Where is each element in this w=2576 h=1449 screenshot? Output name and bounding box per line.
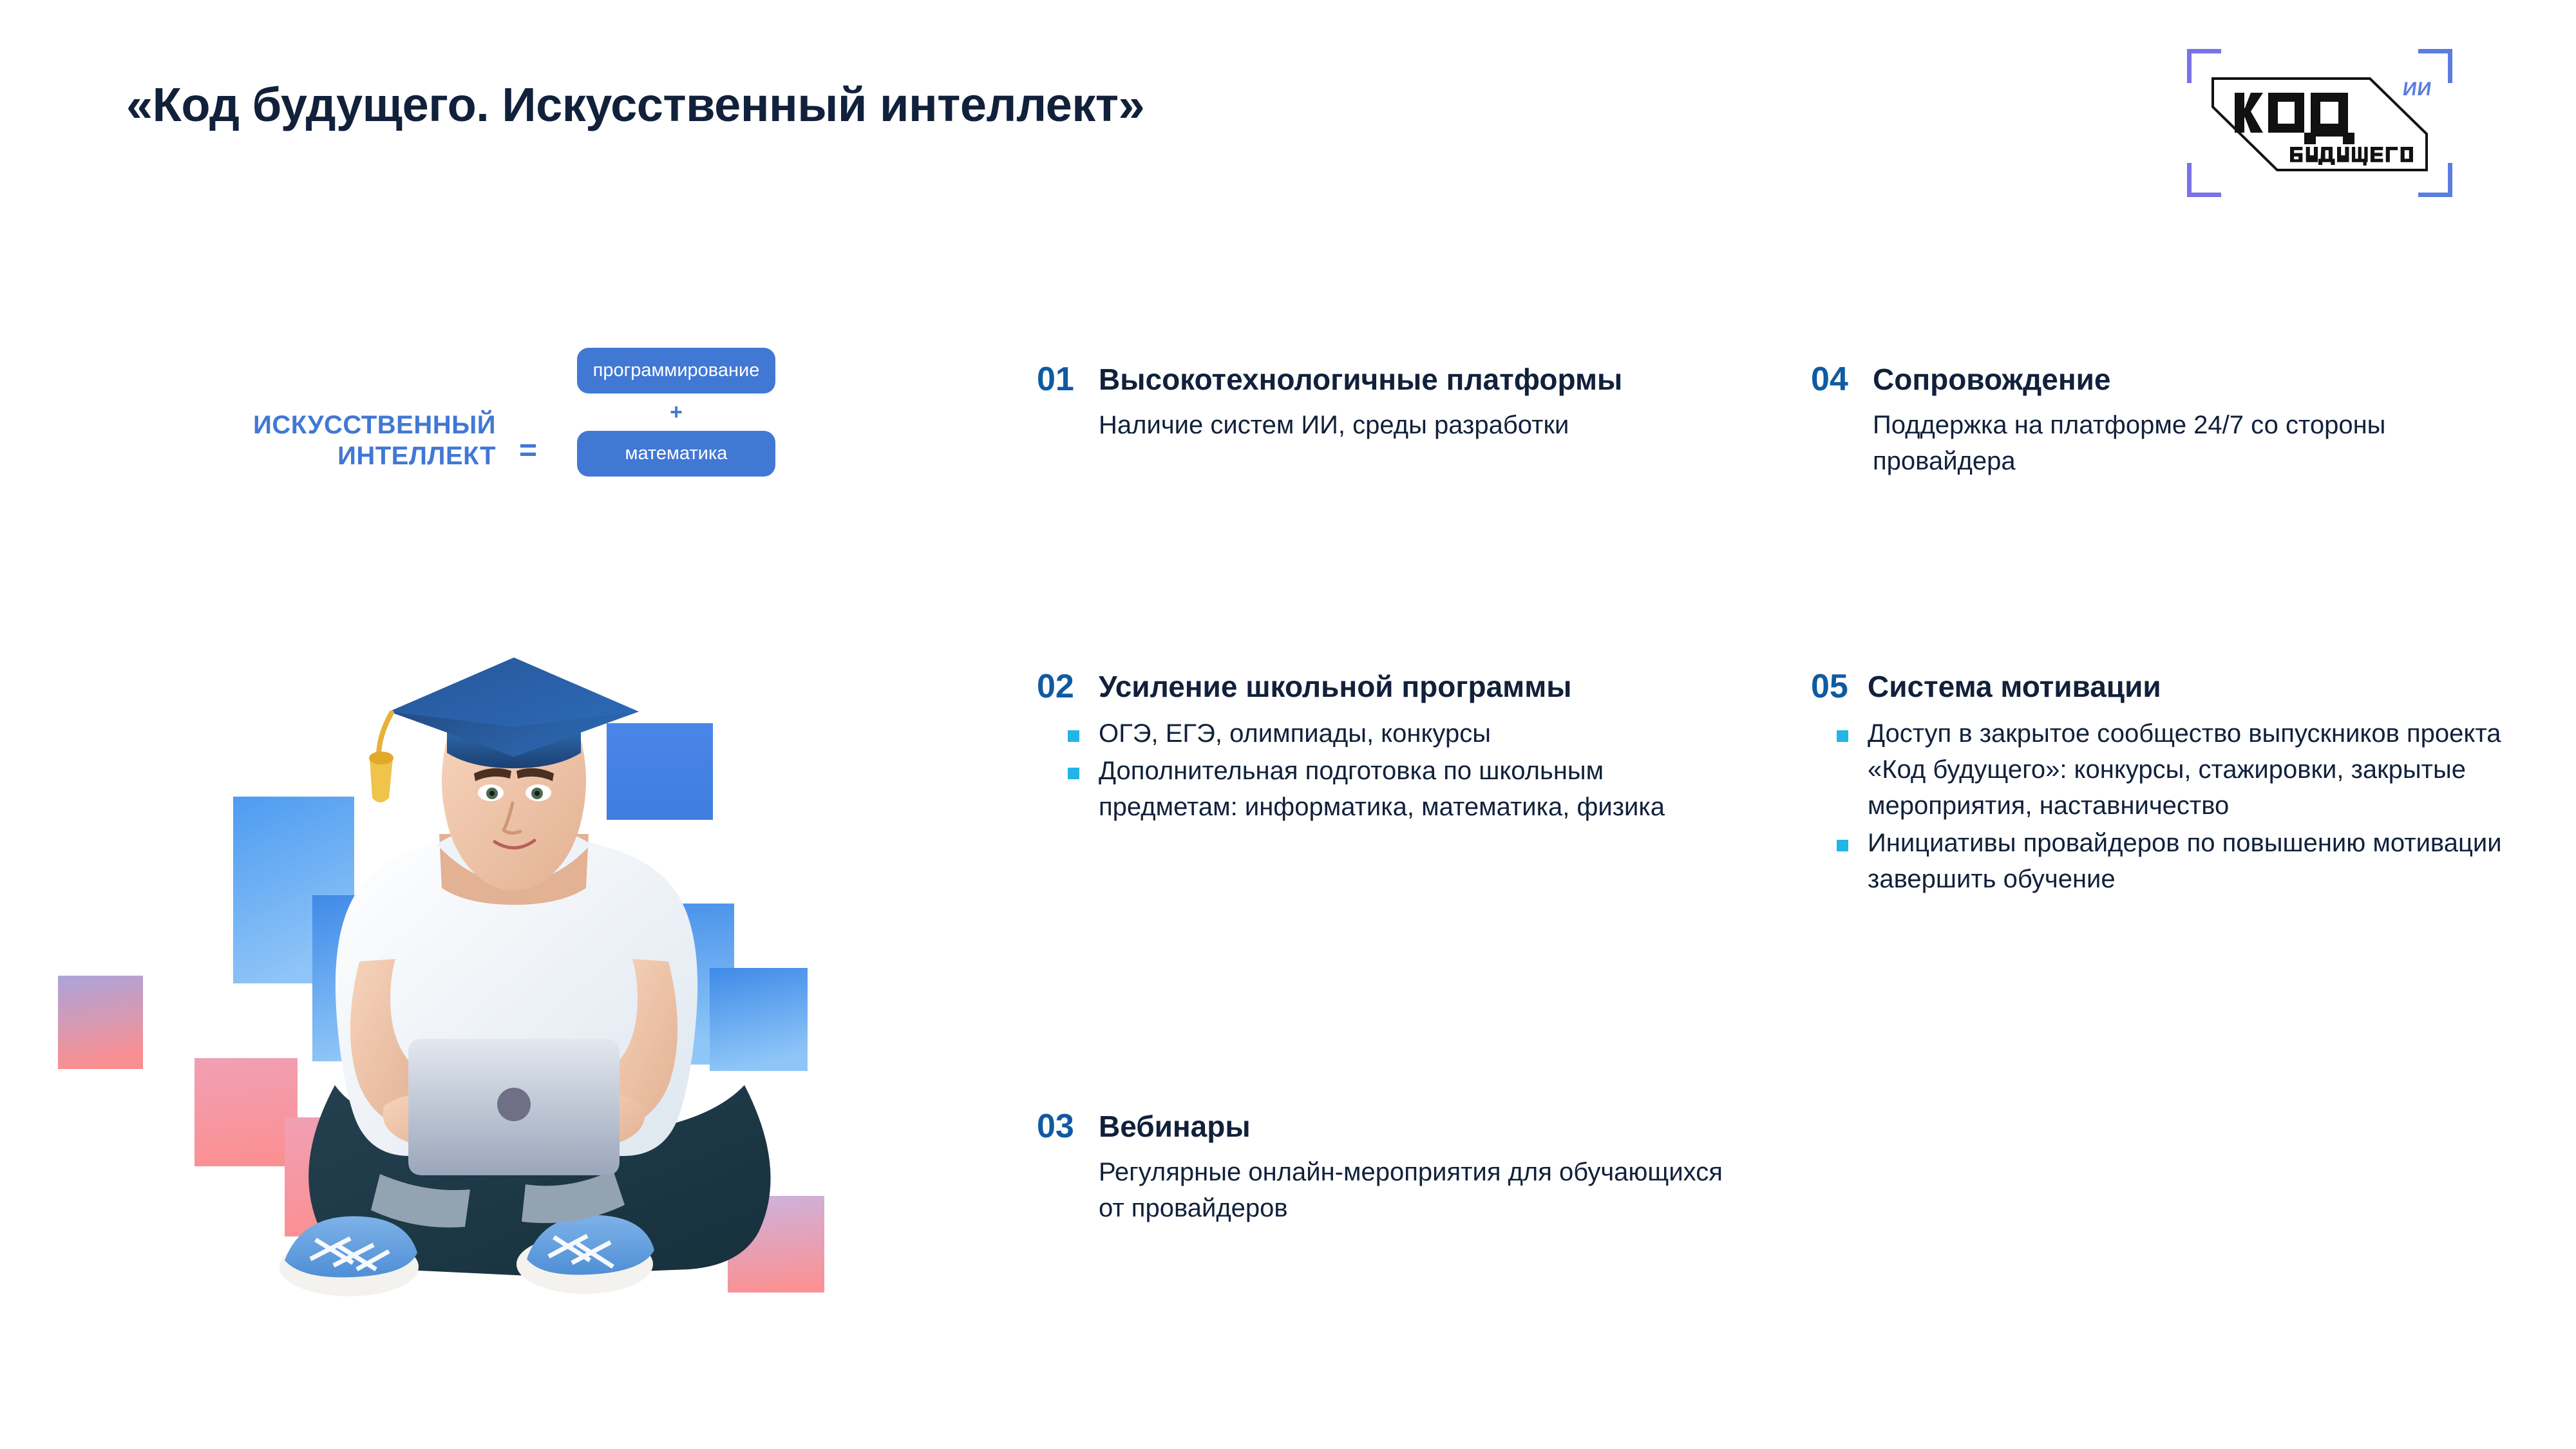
feature-description: Поддержка на платформе 24/7 со стороны п… xyxy=(1873,407,2494,479)
ai-term-programming: программирование xyxy=(577,348,775,393)
feature-header: 03 Вебинары xyxy=(1037,1106,1745,1146)
feature-title: Высокотехнологичные платформы xyxy=(1099,359,1622,399)
student-illustration-svg xyxy=(58,641,824,1336)
list-item: Доступ в закрытое сообщество выпускников… xyxy=(1811,715,2506,824)
ai-formula-terms: программирование + математика xyxy=(577,348,775,477)
list-item-label: Дополнительная подготовка по школьным пр… xyxy=(1099,757,1665,821)
ai-formula-label: ИСКУССТВЕННЫЙ ИНТЕЛЛЕКТ xyxy=(97,410,496,471)
ai-formula-equals-sign: = xyxy=(519,433,537,468)
feature-item-04: 04 Сопровождение Поддержка на платформе … xyxy=(1811,359,2494,479)
bullet-square-icon xyxy=(1837,840,1848,851)
feature-number: 01 xyxy=(1037,359,1099,399)
bullet-square-icon xyxy=(1068,768,1079,779)
list-item-label: Доступ в закрытое сообщество выпускников… xyxy=(1868,719,2501,820)
feature-header: 01 Высокотехнологичные платформы xyxy=(1037,359,1829,399)
feature-bullet-list: ОГЭ, ЕГЭ, олимпиады, конкурсы Дополнител… xyxy=(1037,715,1719,825)
feature-header: 04 Сопровождение xyxy=(1811,359,2494,399)
brand-logo: ИИ xyxy=(2182,44,2458,202)
logo-pentagon-icon xyxy=(2182,44,2458,202)
bullet-square-icon xyxy=(1837,730,1848,742)
feature-item-02: 02 Усиление школьной программы ОГЭ, ЕГЭ,… xyxy=(1037,667,1719,826)
feature-title: Сопровождение xyxy=(1873,359,2111,399)
feature-description: Регулярные онлайн-мероприятия для обучаю… xyxy=(1099,1154,1745,1226)
ai-formula-label-line2: ИНТЕЛЛЕКТ xyxy=(337,442,496,470)
feature-number: 03 xyxy=(1037,1106,1099,1146)
feature-number: 02 xyxy=(1037,667,1099,706)
logo-ai-badge: ИИ xyxy=(2401,79,2433,100)
page-title: «Код будущего. Искусственный интеллект» xyxy=(126,77,1144,132)
feature-item-03: 03 Вебинары Регулярные онлайн-мероприяти… xyxy=(1037,1106,1745,1226)
feature-title: Система мотивации xyxy=(1868,667,2161,706)
ai-formula-plus-sign: + xyxy=(577,393,775,431)
feature-bullet-list: Доступ в закрытое сообщество выпускников… xyxy=(1811,715,2506,897)
ai-term-mathematics: математика xyxy=(577,431,775,477)
feature-title: Вебинары xyxy=(1099,1106,1251,1146)
list-item-label: Инициативы провайдеров по повышению моти… xyxy=(1868,829,2502,893)
student-illustration xyxy=(58,641,824,1336)
feature-description: Наличие систем ИИ, среды разработки xyxy=(1099,407,1829,443)
feature-number: 05 xyxy=(1811,667,1868,706)
ai-formula-label-line1: ИСКУССТВЕННЫЙ xyxy=(253,411,496,439)
list-item: ОГЭ, ЕГЭ, олимпиады, конкурсы xyxy=(1037,715,1719,752)
list-item: Инициативы провайдеров по повышению моти… xyxy=(1811,825,2506,897)
feature-header: 05 Система мотивации xyxy=(1811,667,2506,706)
feature-header: 02 Усиление школьной программы xyxy=(1037,667,1719,706)
bullet-square-icon xyxy=(1068,730,1079,742)
feature-item-01: 01 Высокотехнологичные платформы Наличие… xyxy=(1037,359,1829,443)
list-item-label: ОГЭ, ЕГЭ, олимпиады, конкурсы xyxy=(1099,719,1491,748)
feature-item-05: 05 Система мотивации Доступ в закрытое с… xyxy=(1811,667,2506,898)
list-item: Дополнительная подготовка по школьным пр… xyxy=(1037,753,1719,825)
feature-number: 04 xyxy=(1811,359,1873,399)
feature-title: Усиление школьной программы xyxy=(1099,667,1572,706)
